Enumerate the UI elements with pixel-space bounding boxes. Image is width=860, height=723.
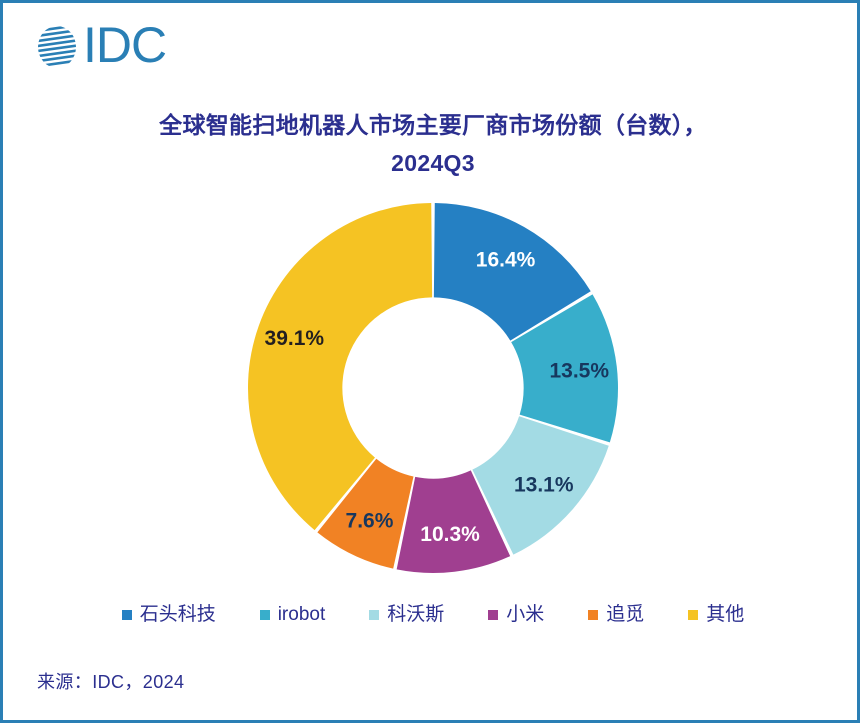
- donut-chart-svg: 16.4%13.5%13.1%10.3%7.6%39.1%: [223, 188, 643, 588]
- legend-swatch-icon: [122, 610, 132, 620]
- chart-legend: 石头科技irobot科沃斯小米追觅其他: [3, 605, 860, 624]
- donut-slice-label: 7.6%: [346, 509, 394, 532]
- donut-slice-label: 16.4%: [476, 248, 536, 271]
- donut-slice-label: 10.3%: [420, 523, 480, 546]
- legend-swatch-icon: [260, 610, 270, 620]
- legend-item[interactable]: 石头科技: [122, 605, 216, 624]
- legend-item[interactable]: 小米: [488, 605, 544, 624]
- legend-item[interactable]: 其他: [688, 605, 744, 624]
- legend-swatch-icon: [369, 610, 379, 620]
- idc-logo: IDC: [33, 19, 166, 75]
- legend-item[interactable]: 追觅: [588, 605, 644, 624]
- idc-wordmark: IDC: [83, 20, 166, 70]
- legend-item-label: irobot: [278, 605, 326, 624]
- chart-title-line-2: 2024Q3: [133, 145, 733, 183]
- legend-item[interactable]: 科沃斯: [369, 605, 444, 624]
- globe-icon: [33, 23, 81, 71]
- legend-item[interactable]: irobot: [260, 605, 326, 624]
- legend-swatch-icon: [688, 610, 698, 620]
- donut-slice-label: 39.1%: [265, 327, 325, 350]
- legend-item-label: 石头科技: [140, 605, 216, 624]
- donut-slice-label: 13.5%: [549, 359, 609, 382]
- source-note: 来源：IDC，2024: [37, 668, 184, 694]
- donut-slices: [248, 203, 618, 573]
- legend-item-label: 科沃斯: [387, 605, 444, 624]
- chart-title-line-1: 全球智能扫地机器人市场主要厂商市场份额（台数），: [133, 107, 733, 145]
- legend-swatch-icon: [588, 610, 598, 620]
- chart-title: 全球智能扫地机器人市场主要厂商市场份额（台数）， 2024Q3: [133, 107, 733, 183]
- legend-item-label: 其他: [706, 605, 744, 624]
- slide-canvas: IDC 全球智能扫地机器人市场主要厂商市场份额（台数）， 2024Q3 16.4…: [0, 0, 860, 723]
- legend-item-label: 追觅: [606, 605, 644, 624]
- donut-chart: 16.4%13.5%13.1%10.3%7.6%39.1%: [3, 188, 860, 598]
- legend-swatch-icon: [488, 610, 498, 620]
- donut-slice-label: 13.1%: [514, 474, 574, 497]
- legend-item-label: 小米: [506, 605, 544, 624]
